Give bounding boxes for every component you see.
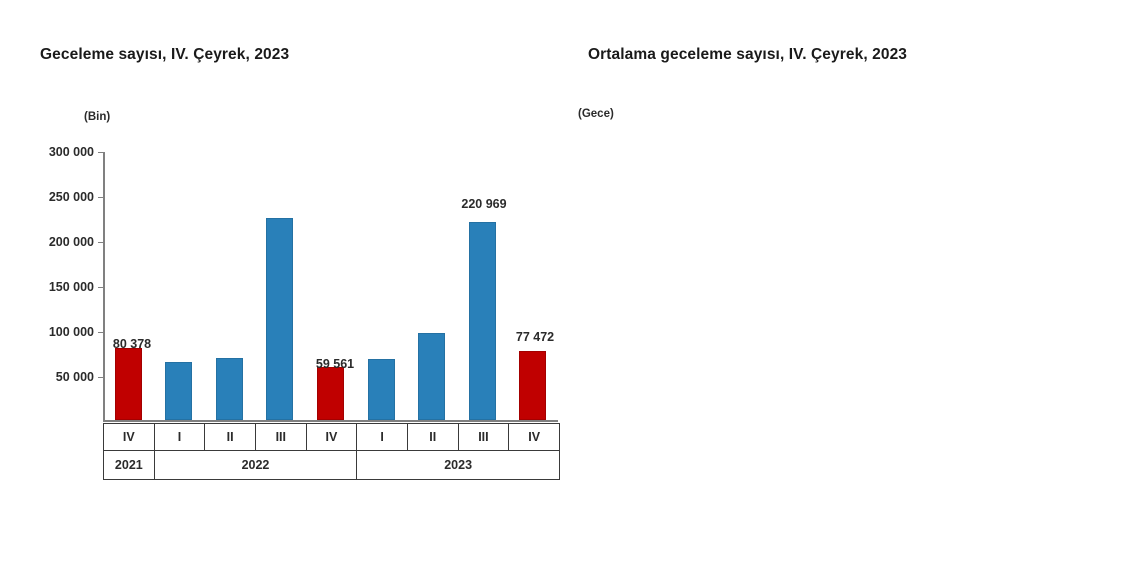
quarter-cell-2023-i: I: [357, 424, 408, 451]
bar-2023-iv: [519, 351, 546, 421]
bar-2022-ii: [216, 358, 243, 420]
bar-chart-category-table: IV I II III IV I II III IV 2021 2022 202…: [103, 423, 560, 480]
y-label-100000: 100 000: [49, 325, 94, 339]
y-label-300000: 300 000: [49, 145, 94, 159]
bar-chart-unit-label: (Bin): [84, 111, 110, 123]
quarter-cell-2022-iii: III: [255, 424, 306, 451]
year-cell-2023: 2023: [357, 451, 560, 480]
bar-2022-iii: [266, 218, 293, 420]
quarter-cell-2021-iv: IV: [104, 424, 155, 451]
y-label-200000: 200 000: [49, 235, 94, 249]
bar-2023-i: [368, 359, 395, 421]
y-label-50000: 50 000: [56, 370, 94, 384]
bar-chart-panel: Geceleme sayısı, IV. Çeyrek, 2023 (Bin) …: [0, 0, 570, 570]
quarter-cell-2022-i: I: [154, 424, 205, 451]
bar-value-label-2023-iv: 77 472: [516, 330, 554, 344]
y-label-250000: 250 000: [49, 190, 94, 204]
year-row: 2021 2022 2023: [104, 451, 560, 480]
quarter-cell-2022-ii: II: [205, 424, 256, 451]
year-cell-2021: 2021: [104, 451, 155, 480]
quarter-row: IV I II III IV I II III IV: [104, 424, 560, 451]
bar-2023-iii: [469, 222, 496, 421]
quarter-cell-2023-iv: IV: [509, 424, 560, 451]
bar-2021-iv: [115, 348, 142, 420]
bar-2022-i: [165, 362, 192, 420]
quarter-cell-2023-iii: III: [458, 424, 509, 451]
bar-chart-title: Geceleme sayısı, IV. Çeyrek, 2023: [40, 46, 289, 64]
bar-2022-iv: [317, 367, 344, 421]
quarter-cell-2023-ii: II: [407, 424, 458, 451]
bar-chart-x-axis: [103, 420, 558, 422]
bar-value-label-2021-iv: 80 378: [113, 337, 151, 351]
bar-chart-plot-area: 300 000 250 000 200 000 150 000 100 000 …: [103, 145, 558, 422]
bar-value-label-2022-iv: 59 561: [316, 357, 354, 371]
line-chart-panel: Ortalama geceleme sayısı, IV. Çeyrek, 20…: [570, 0, 1140, 570]
line-chart-unit-label: (Gece): [578, 108, 614, 120]
year-cell-2022: 2022: [154, 451, 357, 480]
bar-2023-ii: [418, 333, 445, 420]
bar-series: [103, 145, 558, 420]
bar-value-label-2023-iii: 220 969: [461, 197, 506, 211]
y-label-150000: 150 000: [49, 280, 94, 294]
quarter-cell-2022-iv: IV: [306, 424, 357, 451]
line-chart-title: Ortalama geceleme sayısı, IV. Çeyrek, 20…: [588, 46, 907, 64]
charts-page: Geceleme sayısı, IV. Çeyrek, 2023 (Bin) …: [0, 0, 1140, 570]
